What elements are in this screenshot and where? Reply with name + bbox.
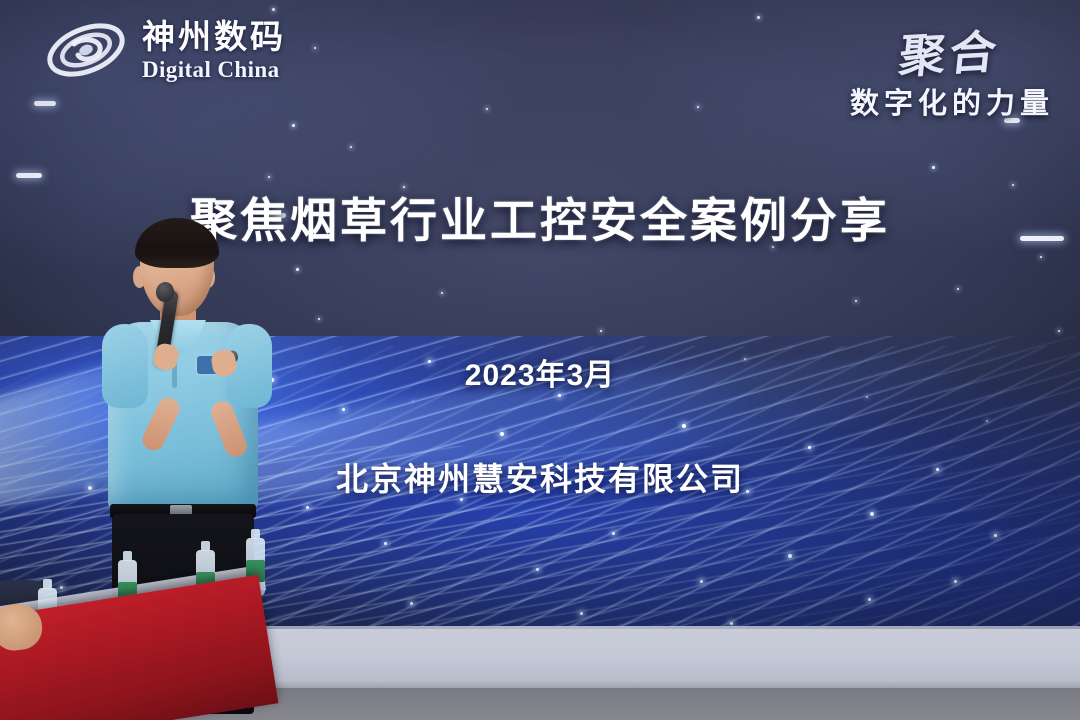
digital-china-logo: 神州数码 Digital China (44, 14, 286, 86)
presenter-sleeve-left (102, 324, 148, 408)
presenter-hair (135, 218, 219, 268)
conference-stage-photo: 神州数码 Digital China 聚合 数字化的力量 聚焦烟草行业工控安全案… (0, 0, 1080, 720)
brand-name-cn: 神州数码 (142, 20, 286, 53)
brand-name-en: Digital China (142, 58, 286, 81)
event-logo: 聚合 数字化的力量 (850, 18, 1054, 122)
judges-table (0, 556, 268, 720)
event-logo-calligraphy: 聚合 (896, 15, 1004, 86)
spiral-galaxy-icon (44, 14, 128, 86)
event-logo-subtitle: 数字化的力量 (850, 80, 1054, 122)
